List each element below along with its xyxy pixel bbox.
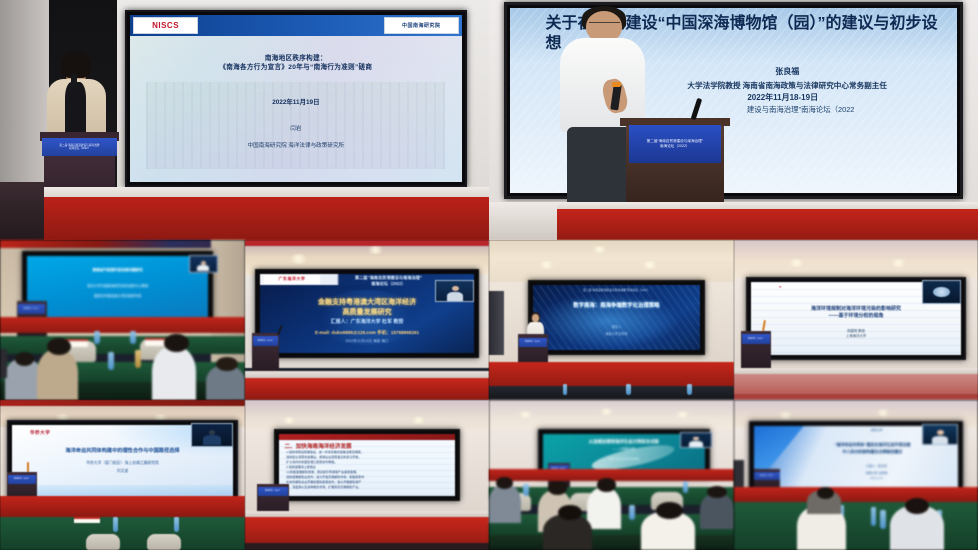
slide-surface: NISCS 中国南海研究院 南海地区秩序构建： 《南海各方行为宣言》20年与“南… [130, 15, 462, 183]
stage-floor [489, 362, 734, 386]
floor-front [245, 543, 489, 550]
ceiling-light [675, 411, 690, 419]
audience-member [489, 484, 521, 523]
collage-panel-9[interactable]: 从流域治理到海洋生态文明综合试验 ——以海南为例 海南大学生态与环境学院 南海论… [489, 400, 734, 550]
water-bottle [687, 384, 692, 395]
picture-in-picture-video [189, 255, 218, 273]
slide-presenter: 郑建明 教授 [764, 329, 948, 334]
slide-presenter: 张良福 [644, 66, 931, 78]
collage-panel-7[interactable]: 华侨大学 海洋命运共同体构建中的理性合作与中国路径选择 华侨大学（厦门校区）· … [0, 400, 245, 550]
slide-affiliation: 海南大学 法学院 [815, 471, 938, 476]
microphone [71, 74, 76, 88]
podium-sign: 南海论坛（2022） [253, 336, 278, 346]
audience-member [700, 493, 734, 529]
picture-in-picture-video [680, 432, 712, 449]
audience-head [707, 486, 727, 498]
projection-screen-frame: 二、加快海南海洋经济发展 1.加快海南自贸港建设，进一步完善相关政策法规及措施，… [274, 429, 459, 501]
audience-head [496, 477, 513, 489]
ceiling-light [876, 409, 891, 417]
picture-in-picture-video [435, 280, 474, 302]
podium-sign: 第二届“海南自贸港建设与南海治理” 南海论坛（2022） [629, 125, 721, 163]
water-bottle [174, 517, 179, 532]
slide-subtitle: ——以海南为例 [553, 447, 695, 452]
audience-head [656, 502, 683, 519]
podium-sign: 南海论坛（2022） [519, 338, 546, 348]
slide-banner-text: 第二届“海南自贸港建设与南海治理” 南海论坛（2022） [341, 275, 435, 288]
microphone-band [612, 82, 621, 88]
ceiling [489, 240, 734, 285]
pip-body [197, 265, 209, 271]
collage-panel-6[interactable]: ● 海洋环境规制对海洋环境污染的影响研究 ——基于环境分权的视角 郑建明 教授 … [734, 240, 978, 400]
audience-table-3 [489, 535, 734, 550]
front-row-shadow [489, 386, 734, 400]
water-bottle [94, 331, 100, 344]
pip-body [932, 436, 949, 444]
slide-author: 刘文波 [26, 469, 220, 475]
picture-in-picture-video [922, 280, 961, 304]
podium-sign: 南海论坛（2022） [258, 487, 288, 496]
speaker-inner-top [65, 82, 87, 135]
audience-head [558, 505, 583, 520]
water-bottle [108, 352, 114, 370]
slide-date: 2022年11月19日 [150, 98, 442, 108]
stage-edge [245, 511, 489, 517]
av-equipment [489, 291, 504, 355]
audience-head [597, 478, 617, 492]
stage-edge [245, 371, 489, 377]
water-bottle [130, 331, 136, 344]
stage-floor [0, 197, 489, 240]
water-bottle [683, 481, 688, 493]
pip-body [689, 441, 702, 447]
slide-title: 海洋命运共同体构建中的理性合作与中国路径选择 [21, 448, 224, 455]
audience-table-1 [0, 336, 245, 354]
slide-logo-left: 华侨大学 [21, 428, 87, 438]
slide-heading: 二、加快海南海洋经济发展 [285, 442, 450, 450]
pip-body [203, 435, 220, 445]
slide-presenter: 华侨大学（厦门校区）· 海上丝绸之路研究院 [26, 461, 220, 467]
slide-logo-left: 海南大学 [840, 428, 914, 432]
slide-banner: NISCS 中国南海研究院 [130, 15, 462, 37]
stage-edge [489, 202, 978, 209]
ceiling-light [641, 261, 658, 269]
ceiling-band [0, 240, 245, 248]
wall-pillar [0, 0, 49, 187]
pip-head [937, 430, 944, 435]
podium-sign: 南海论坛（2022） [754, 472, 779, 480]
stage-edge [734, 368, 978, 374]
slide-affiliation: 上海海洋大学 [764, 334, 948, 339]
ceiling-light [282, 417, 297, 425]
water-bottle [629, 505, 635, 520]
stage-floor [734, 487, 978, 502]
collage-panel-5[interactable]: 第二届“海南自贸港建设与南海治理”南海论坛（2022） 数字南海：南海争端数字化… [489, 240, 734, 400]
stage-edge [0, 187, 489, 197]
podium-sign: 南海论坛（2022） [742, 334, 770, 344]
photo-collage: NISCS 中国南海研究院 南海地区秩序构建： 《南海各方行为宣言》20年与“南… [0, 0, 978, 550]
slide-presenter: 汇报人：广东海洋大学 杜军 教授 [273, 319, 462, 327]
stage-floor [245, 378, 489, 400]
slide-title: 数字南海：南海争端数字化治理策略 [540, 303, 693, 310]
collage-panel-1[interactable]: NISCS 中国南海研究院 南海地区秩序构建： 《南海各方行为宣言》20年与“南… [0, 0, 489, 240]
chair [147, 534, 181, 550]
ceiling-light [599, 408, 614, 416]
projection-screen-frame: 第二届“海南自贸港建设与南海治理”南海论坛（2022） 数字南海：南海争端数字化… [528, 280, 704, 355]
audience-head [548, 481, 568, 495]
slide-title: 南海地区秩序构建： 《南海各方行为宣言》20年与“南海行为准则”磋商 [143, 55, 449, 73]
ceiling-light [778, 412, 793, 420]
pip-body [447, 292, 463, 301]
ceiling-red-band [0, 400, 245, 406]
slide-body: 1.加快海南自贸港建设，进一步完善相关政策法规及措施， 加快建立海南省会展业、旅… [286, 450, 447, 491]
slide-date: 2022.11.19 [815, 477, 938, 481]
collage-panel-2[interactable]: 关于在海南建设“中国深海博物馆（园）”的建议与初步设想 张良福 大学法学院教授 … [489, 0, 978, 240]
collage-row-3: 华侨大学 海洋命运共同体构建中的理性合作与中国路径选择 华侨大学（厦门校区）· … [0, 400, 978, 550]
pip-head [452, 286, 459, 291]
wall-base-left [489, 202, 557, 240]
slide-logo-right: 中国南海研究院 [384, 17, 459, 34]
slide-affiliation: 中国南海研究院 海洋法律与政策研究所 [150, 142, 442, 150]
stage-floor [489, 209, 978, 240]
slide-title: 从流域治理到海洋生态文明综合试验 [549, 439, 698, 445]
podium-sign: 南海论坛（2022） [18, 304, 45, 314]
slide-banner-text: 第二届“海南自贸港建设与南海治理”南海论坛（2022） [543, 288, 689, 292]
slide-title: 海洋环境规制对海洋环境污染的影响研究 ——基于环境分权的视角 [760, 306, 953, 321]
tripod [0, 349, 7, 378]
ceiling-red-band [245, 240, 489, 246]
slide-date: 2022年11月19日 海南·海口 [273, 339, 462, 344]
collage-row-2: 南海油气资源开发法律问题研究 南京大学中国南海研究协同创新中心教授 国家社科基金… [0, 240, 978, 400]
chair [86, 534, 120, 550]
slide-date: 2022年11月18-19日 [644, 92, 922, 104]
slide-affiliation: 国家社科基金重大项目首席专家 [38, 294, 197, 299]
ceiling-light [411, 417, 426, 425]
collage-panel-3[interactable]: 南海油气资源开发法律问题研究 南京大学中国南海研究协同创新中心教授 国家社科基金… [0, 240, 245, 400]
pip-head [209, 430, 215, 435]
audience-head [817, 487, 834, 499]
picture-in-picture-video [922, 424, 959, 445]
water-bottle [871, 507, 876, 527]
audience-head [905, 498, 929, 515]
podium-base-shadow [0, 182, 44, 240]
audience-member [37, 349, 79, 400]
slide-logo-left: NISCS [133, 17, 198, 34]
water-bottle [880, 510, 885, 530]
ceiling-light [538, 261, 555, 269]
audience-head [47, 338, 72, 356]
slide-presenter: 报告人 [543, 325, 689, 330]
tea-bottle [135, 350, 141, 368]
podium-sign: 第二届“海南自贸港建设与南海治理” 南海论坛（2022） [42, 138, 117, 156]
audience-head [164, 334, 189, 352]
audience-head [216, 357, 238, 371]
ceiling-light [592, 246, 607, 252]
stage-floor [0, 496, 245, 517]
ceiling [734, 240, 978, 282]
name-card [74, 517, 101, 523]
projection-screen-frame: 南海油气资源开发法律问题研究 南京大学中国南海研究协同创新中心教授 国家社科基金… [22, 251, 213, 325]
slide-logo-left: ● [764, 284, 798, 291]
slide-surface: 二、加快海南海洋经济发展 1.加快海南自贸港建设，进一步完善相关政策法规及措施，… [279, 434, 454, 496]
podium-sign: 南海论坛（2022） [8, 475, 36, 484]
slide-logo-left: 广东海洋大学 [264, 275, 320, 284]
water-bottle [626, 384, 631, 395]
water-bottle [523, 484, 528, 496]
collage-panel-10[interactable]: 海南大学 “海洋命运共同体”理念在海洋生态环境治理 中人民对机制构建及法律路径建… [734, 400, 978, 550]
collage-panel-8[interactable]: 二、加快海南海洋经济发展 1.加快海南自贸港建设，进一步完善相关政策法规及措施，… [245, 400, 489, 550]
slide-presenter: 海南大学生态与环境学院 [553, 457, 695, 461]
water-bottle [113, 517, 118, 532]
glasses-icon [589, 22, 620, 27]
pip-globe-icon [933, 287, 949, 297]
audience-member [152, 346, 196, 400]
slide-globe-graphic [533, 285, 699, 350]
slide-presenter: 闫岩 [150, 125, 442, 133]
pip-head [693, 437, 699, 441]
slide-title: 南海油气资源开发法律问题研究 [34, 268, 201, 273]
audience-member [587, 487, 621, 529]
slide-surface: 第二届“海南自贸港建设与南海治理”南海论坛（2022） 数字南海：南海争端数字化… [533, 285, 699, 350]
slide-presenter: 汇报人：陈玉花 [815, 464, 938, 469]
ceiling-light [518, 411, 533, 419]
slide-header-band [279, 434, 454, 441]
slide-affiliation: 大学法学院教授 海南省南海政策与法律研究中心常务副主任 [626, 80, 948, 91]
water-bottle [563, 384, 568, 395]
audience-table [0, 517, 245, 550]
slide-surface: 南海油气资源开发法律问题研究 南京大学中国南海研究协同创新中心教授 国家社科基金… [27, 256, 208, 320]
projection-screen-frame: NISCS 中国南海研究院 南海地区秩序构建： 《南海各方行为宣言》20年与“南… [125, 10, 467, 188]
slide-presenter: 南京大学中国南海研究协同创新中心教授 [38, 284, 197, 289]
podium-microphone [27, 462, 29, 473]
collage-panel-4[interactable]: 广东海洋大学 第二届“海南自贸港建设与南海治理” 南海论坛（2022） 金融支持… [245, 240, 489, 400]
stage-floor [0, 317, 245, 333]
slide-affiliation: 海南大学法学院 [543, 332, 689, 337]
slide-contact: E-mail: dubo9895@126.com 手机：15768868291 [273, 330, 462, 337]
picture-in-picture-video [191, 423, 233, 447]
